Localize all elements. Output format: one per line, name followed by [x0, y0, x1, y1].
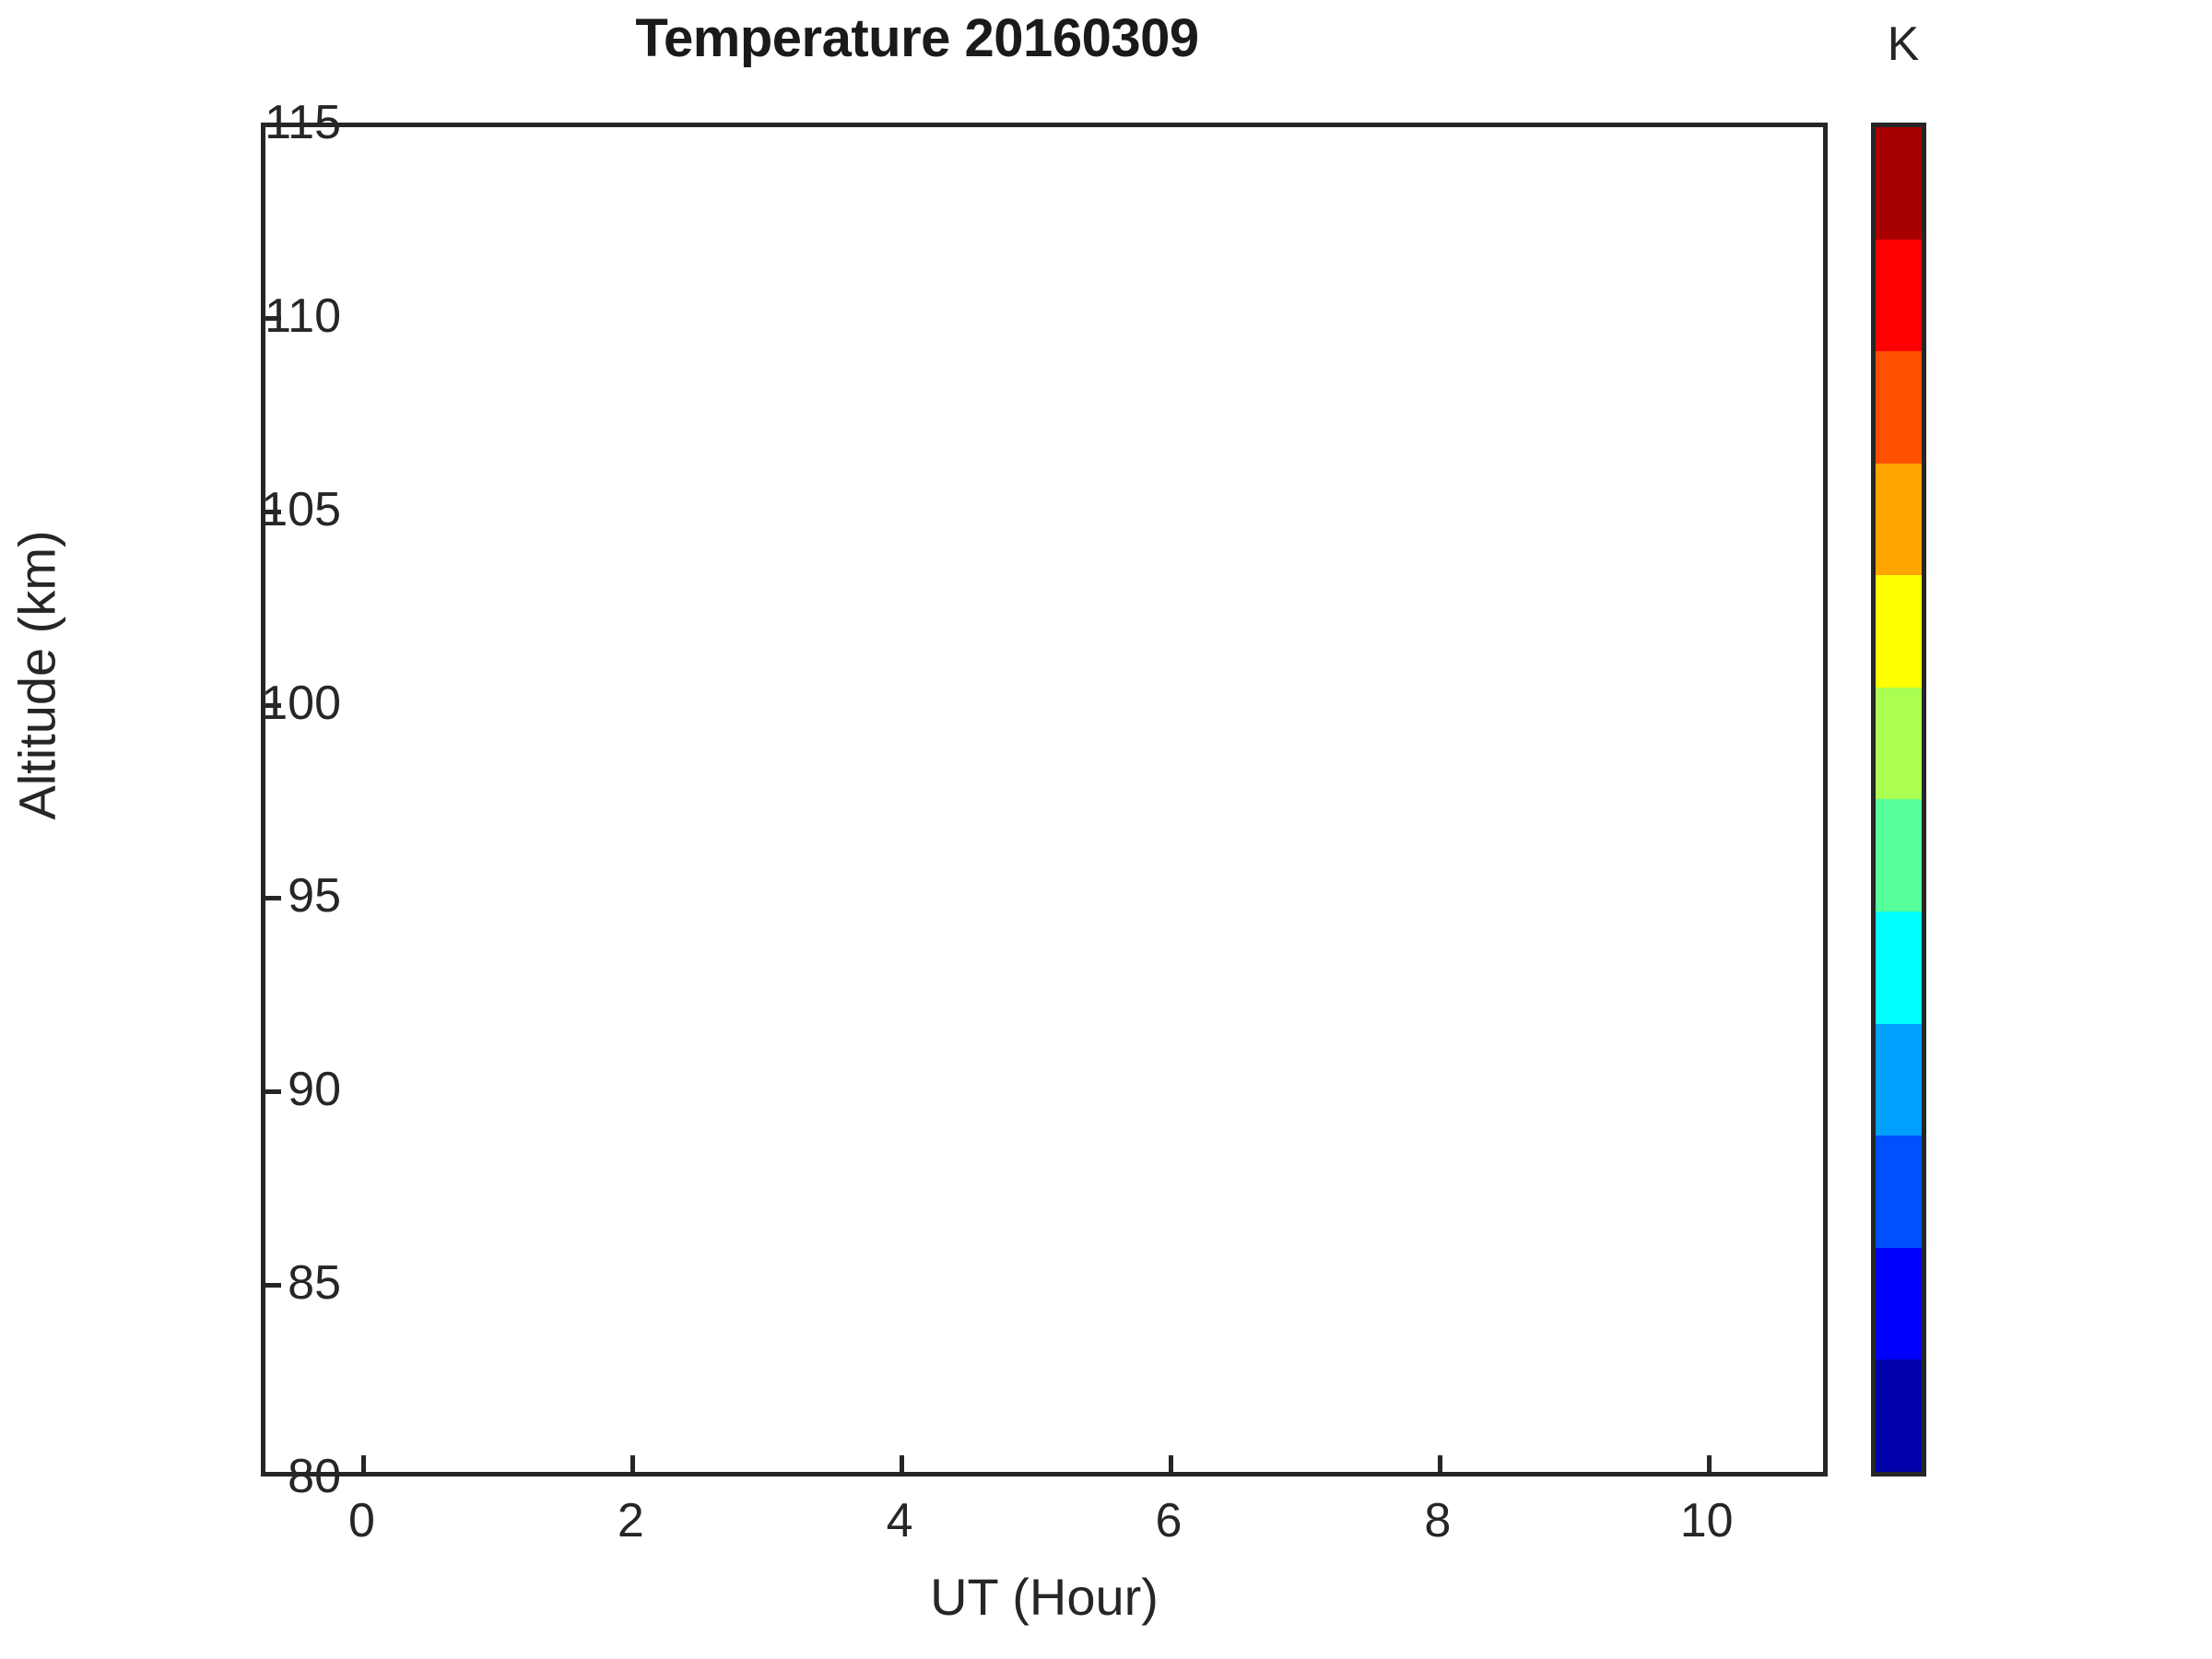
x-axis-tick-0: 0 [288, 1493, 435, 1548]
x-axis-tick-10: 10 [1633, 1493, 1781, 1548]
colorbar-band-200-210 [1876, 688, 1922, 800]
y-tick-mark [261, 896, 281, 900]
x-tick-mark [630, 1455, 635, 1477]
y-axis-label: Altitude (km) [7, 123, 67, 1229]
colorbar-band-150-160 [1876, 1248, 1922, 1360]
colorbar-unit-label: K [1853, 17, 1954, 72]
contour-plot [265, 127, 1823, 1472]
y-axis-tick-90: 90 [138, 1062, 341, 1117]
y-tick-mark [261, 1089, 281, 1094]
x-tick-mark [1438, 1455, 1442, 1477]
y-tick-mark [261, 316, 281, 321]
colorbar-band->260 [1876, 127, 1922, 240]
y-tick-mark [261, 510, 281, 514]
y-axis-tick-100: 100 [138, 676, 341, 731]
x-axis-tick-2: 2 [557, 1493, 704, 1548]
y-axis-tick-115: 115 [138, 95, 341, 150]
x-tick-mark [1169, 1455, 1173, 1477]
colorbar-band-190-200 [1876, 799, 1922, 912]
x-tick-mark [361, 1455, 366, 1477]
y-axis-tick-105: 105 [138, 482, 341, 537]
colorbar-band-160-170 [1876, 1135, 1922, 1248]
x-tick-mark [1707, 1455, 1712, 1477]
colorbar-band-170-180 [1876, 1024, 1922, 1136]
x-axis-label: UT (Hour) [261, 1567, 1828, 1627]
colorbar-band-230-240 [1876, 351, 1922, 464]
colorbar [1871, 123, 1926, 1477]
y-axis-tick-95: 95 [138, 868, 341, 924]
plot-axes [261, 123, 1828, 1477]
x-axis-tick-4: 4 [826, 1493, 973, 1548]
y-axis-tick-110: 110 [138, 288, 341, 344]
colorbar-band-210-220 [1876, 575, 1922, 688]
colorbar-band-180-190 [1876, 912, 1922, 1024]
x-axis-tick-6: 6 [1095, 1493, 1242, 1548]
colorbar-band-220-230 [1876, 464, 1922, 576]
page-title: Temperature 20160309 [0, 7, 1834, 69]
colorbar-band-240-260 [1876, 240, 1922, 352]
x-axis-tick-8: 8 [1364, 1493, 1512, 1548]
y-tick-mark [261, 1283, 281, 1288]
colorbar-band-<150 [1876, 1359, 1922, 1472]
y-axis-tick-85: 85 [138, 1255, 341, 1311]
y-tick-mark [261, 703, 281, 708]
x-tick-mark [900, 1455, 904, 1477]
figure-canvas: Temperature 20160309 1151101051009590858… [0, 0, 2212, 1659]
